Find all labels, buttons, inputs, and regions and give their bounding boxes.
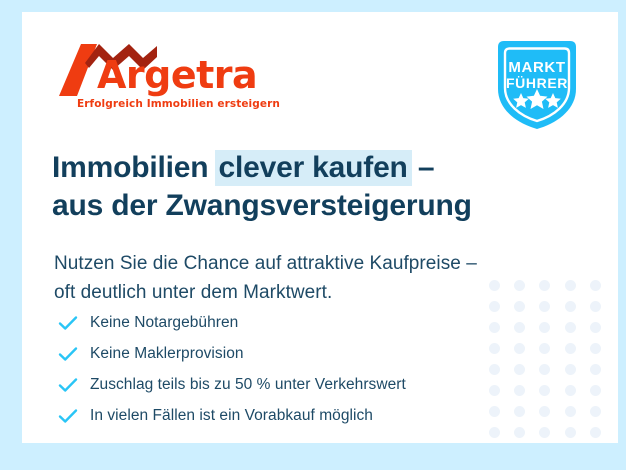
decoration-dot bbox=[565, 280, 576, 291]
headline-part-1: Immobilien bbox=[52, 151, 217, 184]
list-item-label: Keine Notargebühren bbox=[90, 314, 238, 332]
check-icon bbox=[55, 315, 90, 331]
decoration-dot bbox=[565, 343, 576, 354]
list-item: Zuschlag teils bis zu 50 % unter Verkehr… bbox=[55, 369, 525, 400]
shield-icon bbox=[490, 33, 584, 133]
headline: Immobilien clever kaufen – aus der Zwang… bbox=[52, 149, 552, 226]
decoration-dot bbox=[539, 343, 550, 354]
subheadline-line-1: Nutzen Sie die Chance auf attraktive Kau… bbox=[54, 253, 477, 274]
list-item-label: Keine Maklerprovision bbox=[90, 345, 244, 363]
decoration-dot bbox=[590, 280, 601, 291]
list-item: In vielen Fällen ist ein Vorabkauf mögli… bbox=[55, 400, 525, 431]
list-item: Keine Notargebühren bbox=[55, 307, 525, 338]
headline-line-2: aus der Zwangsversteigerung bbox=[52, 189, 472, 222]
decoration-dot bbox=[590, 343, 601, 354]
list-item-label: In vielen Fällen ist ein Vorabkauf mögli… bbox=[90, 407, 373, 425]
decoration-dot bbox=[539, 322, 550, 333]
decoration-dot bbox=[590, 427, 601, 438]
headline-highlight: clever kaufen bbox=[215, 150, 412, 186]
benefit-list: Keine NotargebührenKeine Maklerprovision… bbox=[55, 307, 525, 431]
subheadline-line-2: oft deutlich unter dem Marktwert. bbox=[54, 282, 332, 303]
decoration-dot bbox=[565, 385, 576, 396]
decoration-dot bbox=[565, 301, 576, 312]
argetra-logo[interactable]: Argetra Erfolgreich Immobilien ersteiger… bbox=[55, 40, 235, 120]
decoration-dot bbox=[590, 385, 601, 396]
decoration-dot bbox=[590, 406, 601, 417]
check-icon bbox=[55, 408, 90, 424]
check-icon bbox=[55, 377, 90, 393]
subheadline: Nutzen Sie die Chance auf attraktive Kau… bbox=[54, 250, 554, 308]
decoration-dot bbox=[565, 427, 576, 438]
decoration-dot bbox=[539, 406, 550, 417]
decoration-dot bbox=[539, 364, 550, 375]
logo-wordmark: Argetra bbox=[97, 56, 257, 94]
decoration-dot bbox=[590, 364, 601, 375]
decoration-dot bbox=[565, 364, 576, 375]
headline-part-2: – bbox=[410, 151, 435, 184]
decoration-dot bbox=[539, 427, 550, 438]
check-icon bbox=[55, 346, 90, 362]
list-item-label: Zuschlag teils bis zu 50 % unter Verkehr… bbox=[90, 376, 406, 394]
logo-tagline: Erfolgreich Immobilien ersteigern bbox=[77, 98, 280, 110]
decoration-dot bbox=[565, 406, 576, 417]
decoration-dot bbox=[590, 301, 601, 312]
decoration-dot bbox=[565, 322, 576, 333]
list-item: Keine Maklerprovision bbox=[55, 338, 525, 369]
decoration-dot bbox=[590, 322, 601, 333]
ad-banner: Argetra Erfolgreich Immobilien ersteiger… bbox=[0, 0, 626, 470]
decoration-dot bbox=[539, 385, 550, 396]
markt-fuehrer-badge: MARKT FÜHRER bbox=[490, 33, 584, 133]
ad-card: Argetra Erfolgreich Immobilien ersteiger… bbox=[22, 12, 618, 443]
